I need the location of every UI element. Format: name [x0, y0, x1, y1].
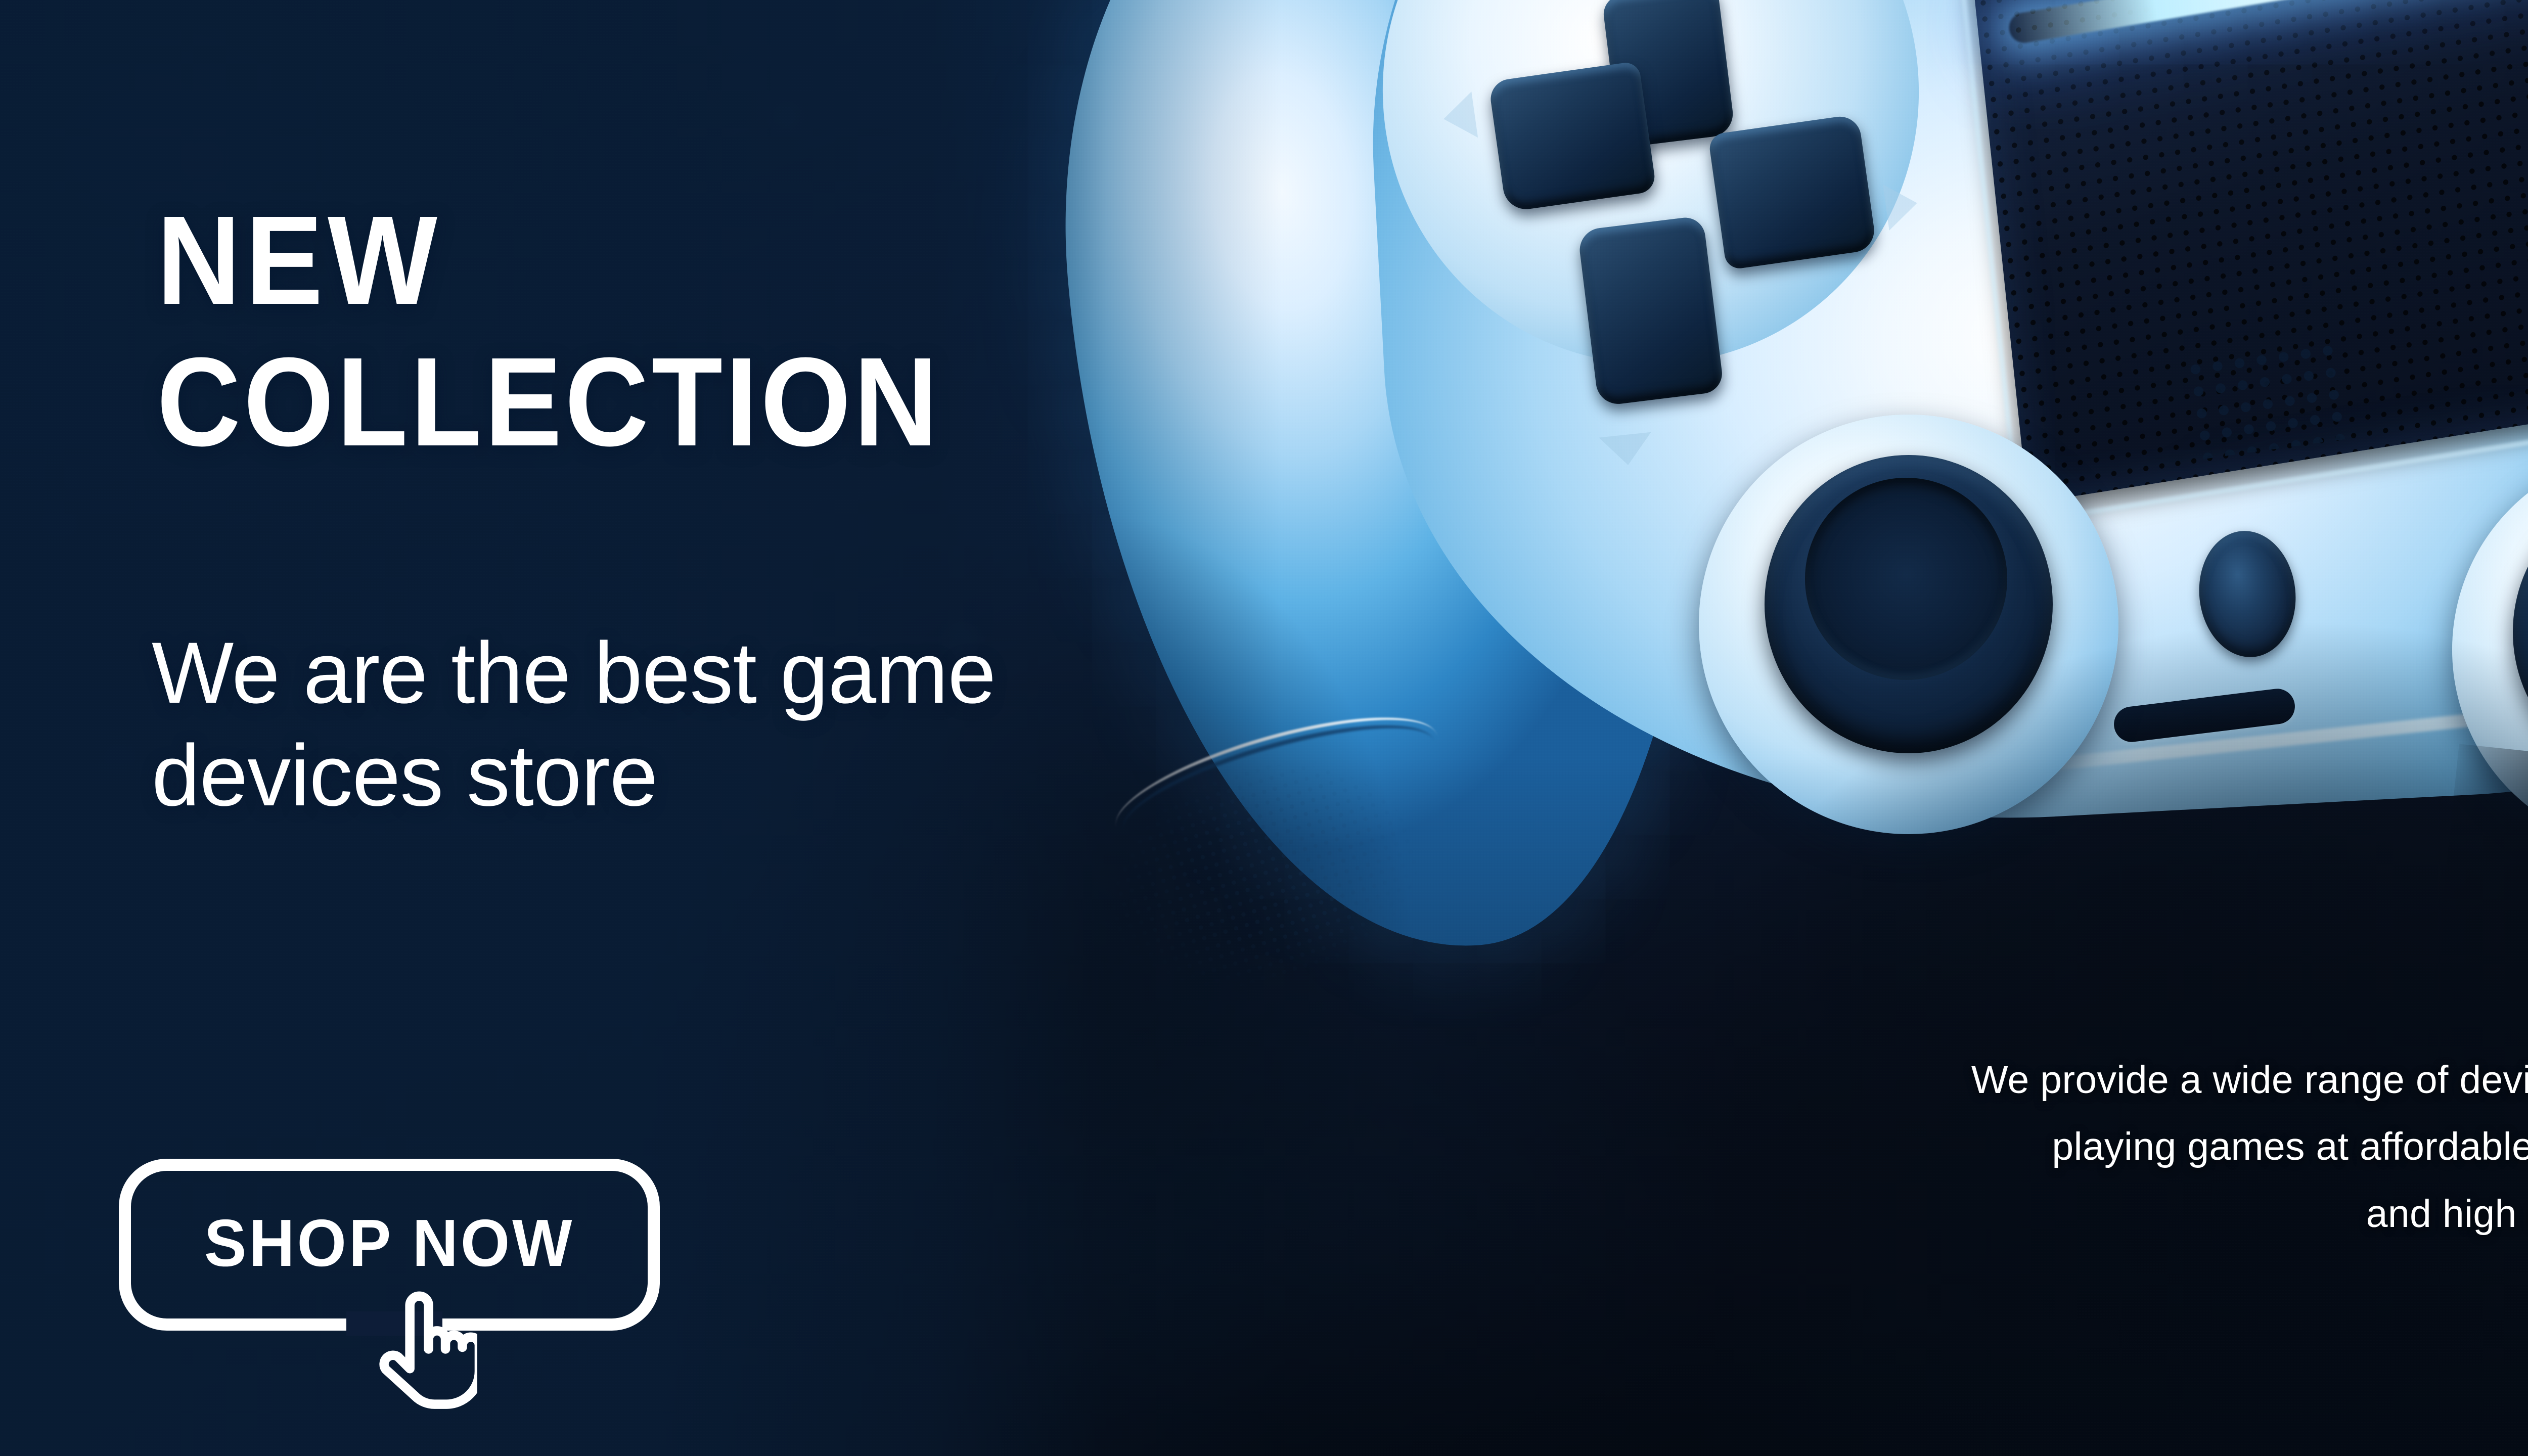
promo-banner: NEW COLLECTION We are the best game devi… [0, 0, 2528, 1456]
headline-line-2: COLLECTION [157, 340, 940, 464]
promo-line-1: We provide a wide range of devices for [1800, 1046, 2528, 1113]
subheadline: We are the best game devices store [152, 622, 1011, 827]
pointing-hand-cursor-icon [376, 1284, 477, 1421]
promo-line-3: and high quality. [1800, 1180, 2528, 1247]
headline-line-1: NEW [157, 198, 442, 322]
promo-line-2: playing games at affordable prices [1800, 1113, 2528, 1180]
promo-paragraph: We provide a wide range of devices for p… [1800, 1046, 2528, 1247]
banner-content: NEW COLLECTION We are the best game devi… [0, 0, 2528, 1456]
